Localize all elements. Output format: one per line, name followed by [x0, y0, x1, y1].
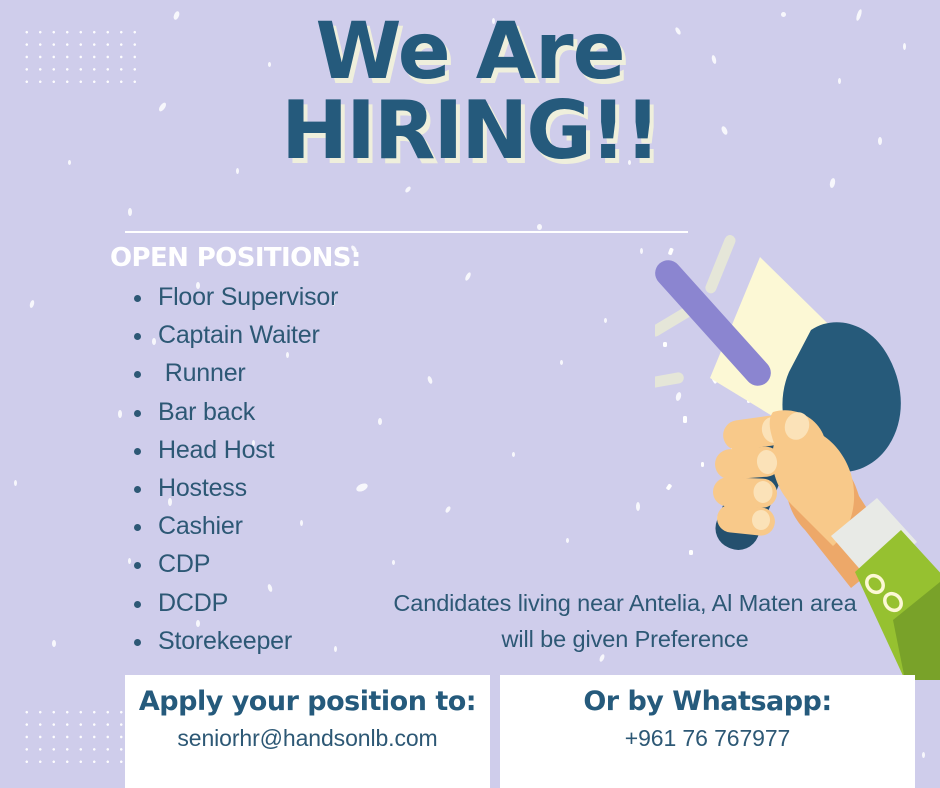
- email-contact-box: Apply your position to: seniorhr@handson…: [125, 675, 490, 788]
- whatsapp-contact-title: Or by Whatsapp:: [500, 685, 915, 719]
- list-item: Captain Waiter: [130, 316, 338, 354]
- list-item: Bar back: [130, 393, 338, 431]
- email-contact-title: Apply your position to:: [125, 685, 490, 719]
- fingernail: [754, 481, 773, 503]
- list-item: Storekeeper: [130, 622, 338, 660]
- open-positions-list: Floor Supervisor Captain Waiter Runner B…: [130, 278, 338, 660]
- fingernail: [752, 510, 770, 530]
- title-divider: [125, 231, 688, 233]
- location-preference-note: Candidates living near Antelia, Al Maten…: [392, 585, 858, 657]
- list-item: Runner: [130, 354, 338, 392]
- whatsapp-number[interactable]: +961 76 767977: [500, 725, 915, 752]
- poster-title: We Are HIRING!!: [0, 14, 940, 170]
- list-item: CDP: [130, 545, 338, 583]
- email-address[interactable]: seniorhr@handsonlb.com: [125, 725, 490, 752]
- list-item: Floor Supervisor: [130, 278, 338, 316]
- list-item: Cashier: [130, 507, 338, 545]
- hiring-poster: We Are HIRING!! OPEN POSITIONS: Floor Su…: [0, 0, 940, 788]
- title-line-1: We Are: [0, 14, 940, 91]
- title-line-2: HIRING!!: [0, 91, 940, 170]
- dot-grid-bottom-left: [20, 706, 142, 772]
- list-item: Hostess: [130, 469, 338, 507]
- whatsapp-contact-box: Or by Whatsapp: +961 76 767977: [500, 675, 915, 788]
- list-item: Head Host: [130, 431, 338, 469]
- list-item: DCDP: [130, 584, 338, 622]
- open-positions-heading: OPEN POSITIONS:: [110, 243, 361, 273]
